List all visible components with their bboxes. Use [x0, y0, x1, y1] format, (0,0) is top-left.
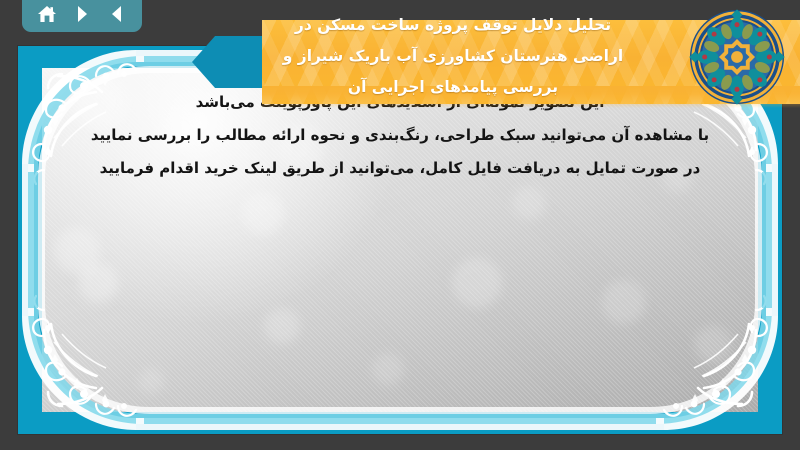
- home-icon: [36, 3, 58, 25]
- bokeh-circle: [602, 280, 646, 324]
- bokeh-circle: [54, 228, 100, 274]
- bokeh-circle: [694, 326, 732, 364]
- bokeh-circle: [78, 263, 118, 303]
- body-line-2: با مشاهده آن می‌توانید سبک طراحی، رنگ‌بن…: [40, 119, 760, 152]
- bokeh-circle: [264, 308, 300, 344]
- viewer-bottom-bar: [0, 436, 800, 450]
- arrow-left-icon: [107, 4, 127, 24]
- bokeh-circle: [372, 353, 404, 385]
- bokeh-circle: [138, 368, 164, 394]
- body-line-3: در صورت تمایل به دریافت فایل کامل، می‌تو…: [40, 152, 760, 185]
- previous-slide-button[interactable]: [104, 1, 130, 27]
- arrow-right-icon: [72, 4, 92, 24]
- bokeh-circle: [452, 258, 502, 308]
- slide-viewer: تحلیل دلایل توقف پروژه ساخت مسکن در اراض…: [0, 0, 800, 450]
- medallion-ornament-icon: [688, 8, 786, 106]
- home-button[interactable]: [34, 1, 60, 27]
- next-slide-button[interactable]: [69, 1, 95, 27]
- bokeh-circle: [512, 186, 546, 220]
- viewer-navigation-bar: [22, 0, 142, 32]
- ribbon-tail-shape: [192, 36, 264, 88]
- bokeh-circle: [242, 193, 284, 235]
